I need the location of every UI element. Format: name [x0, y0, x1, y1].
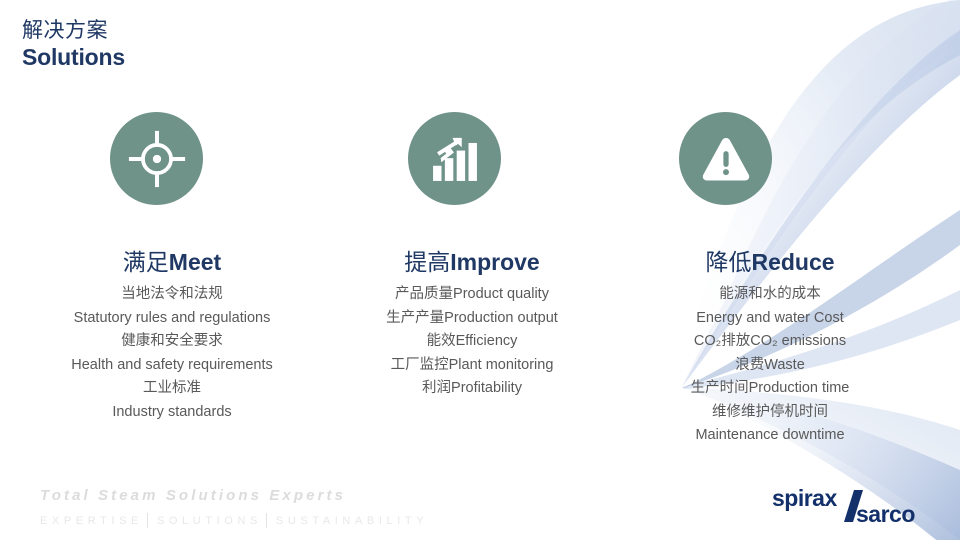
solution-column-improve: 提高Improve 产品质量Product quality 生产产量Produc…: [320, 112, 620, 448]
list-item: 维修维护停机时间: [620, 401, 920, 424]
line-zh: 能效: [427, 333, 456, 349]
list-item: CO₂排放CO₂ emissions: [620, 330, 920, 353]
list-item: 生产时间Production time: [620, 377, 920, 400]
solution-column-reduce: 降低Reduce 能源和水的成本 Energy and water Cost C…: [620, 112, 960, 448]
column-heading-zh: 满足: [123, 249, 169, 275]
solution-column-meet: 满足Meet 当地法令和法规 Statutory rules and regul…: [0, 112, 320, 448]
list-item: 利润Profitability: [324, 377, 620, 400]
list-item: 工厂监控Plant monitoring: [324, 354, 620, 377]
list-item: 能效Efficiency: [324, 330, 620, 353]
list-item: Maintenance downtime: [620, 424, 920, 447]
page-title-en: Solutions: [22, 45, 125, 70]
list-item: 当地法令和法规: [24, 283, 320, 306]
line-en: Health and safety requirements: [71, 357, 273, 373]
list-item: 能源和水的成本: [620, 283, 920, 306]
line-en: Energy and water Cost: [696, 310, 844, 326]
line-zh: 生产产量: [386, 310, 444, 326]
footer: Total Steam Solutions Experts EXPERTISE …: [40, 487, 428, 528]
footer-pillar-sustainability: SUSTAINABILITY: [276, 515, 428, 527]
page-title-zh: 解决方案: [22, 20, 125, 43]
slide-root: 解决方案 Solutions 满足Meet 当地法令和法规 St: [0, 0, 960, 540]
footer-divider: [266, 513, 267, 528]
footer-pillars: EXPERTISE SOLUTIONS SUSTAINABILITY: [40, 513, 428, 528]
target-crosshair-glyph: [128, 130, 186, 188]
line-zh: 当地法令和法规: [121, 286, 223, 302]
line-zh: 维修维护停机时间: [712, 404, 828, 420]
line-en: Profitability: [451, 380, 522, 396]
list-item: 健康和安全要求: [24, 330, 320, 353]
column-lines-improve: 产品质量Product quality 生产产量Production outpu…: [320, 283, 620, 400]
line-en: Product quality: [453, 286, 549, 302]
line-en: Plant monitoring: [449, 357, 554, 373]
line-zh: 工厂监控: [391, 357, 449, 373]
footer-pillar-expertise: EXPERTISE: [40, 515, 143, 527]
line-en: Statutory rules and regulations: [74, 310, 271, 326]
line-zh: CO₂排放: [694, 333, 750, 349]
column-heading-zh: 降低: [705, 249, 751, 275]
line-en: Efficiency: [456, 333, 518, 349]
line-en: Waste: [764, 357, 805, 373]
column-heading-en: Reduce: [751, 249, 834, 275]
list-item: 浪费Waste: [620, 354, 920, 377]
line-zh: 工业标准: [143, 380, 201, 396]
line-zh: 浪费: [735, 357, 764, 373]
line-zh: 生产时间: [691, 380, 749, 396]
list-item: 产品质量Product quality: [324, 283, 620, 306]
line-zh: 产品质量: [395, 286, 453, 302]
footer-divider: [147, 513, 148, 528]
list-item: 工业标准: [24, 377, 320, 400]
warning-triangle-icon: [679, 112, 772, 205]
list-item: 生产产量Production output: [324, 307, 620, 330]
footer-pillar-solutions: SOLUTIONS: [157, 515, 262, 527]
line-zh: 能源和水的成本: [719, 286, 821, 302]
list-item: Statutory rules and regulations: [24, 307, 320, 330]
target-crosshair-icon: [110, 112, 203, 205]
line-en: CO₂ emissions: [750, 333, 846, 349]
warning-triangle-glyph: [698, 131, 754, 187]
bar-chart-growth-icon: [408, 112, 501, 205]
spirax-sarco-logo: spirax sarco: [766, 482, 946, 528]
column-heading-zh: 提高: [404, 249, 450, 275]
line-en: Maintenance downtime: [695, 427, 844, 443]
line-zh: 利润: [422, 380, 451, 396]
column-lines-reduce: 能源和水的成本 Energy and water Cost CO₂排放CO₂ e…: [620, 283, 960, 447]
column-heading-meet: 满足Meet: [0, 249, 320, 275]
column-lines-meet: 当地法令和法规 Statutory rules and regulations …: [0, 283, 320, 424]
line-en: Production output: [444, 310, 558, 326]
list-item: Health and safety requirements: [24, 354, 320, 377]
column-heading-improve: 提高Improve: [320, 249, 620, 275]
column-heading-en: Meet: [169, 249, 221, 275]
footer-tagline: Total Steam Solutions Experts: [40, 487, 428, 504]
line-zh: 健康和安全要求: [121, 333, 223, 349]
column-heading-en: Improve: [450, 249, 539, 275]
solutions-columns: 满足Meet 当地法令和法规 Statutory rules and regul…: [0, 112, 960, 448]
svg-text:spirax: spirax: [772, 485, 837, 511]
list-item: Industry standards: [24, 401, 320, 424]
column-heading-reduce: 降低Reduce: [620, 249, 960, 275]
svg-text:sarco: sarco: [856, 501, 915, 527]
page-title: 解决方案 Solutions: [22, 20, 125, 70]
line-en: Production time: [749, 380, 850, 396]
line-en: Industry standards: [112, 404, 231, 420]
bar-chart-growth-glyph: [428, 132, 482, 186]
list-item: Energy and water Cost: [620, 307, 920, 330]
